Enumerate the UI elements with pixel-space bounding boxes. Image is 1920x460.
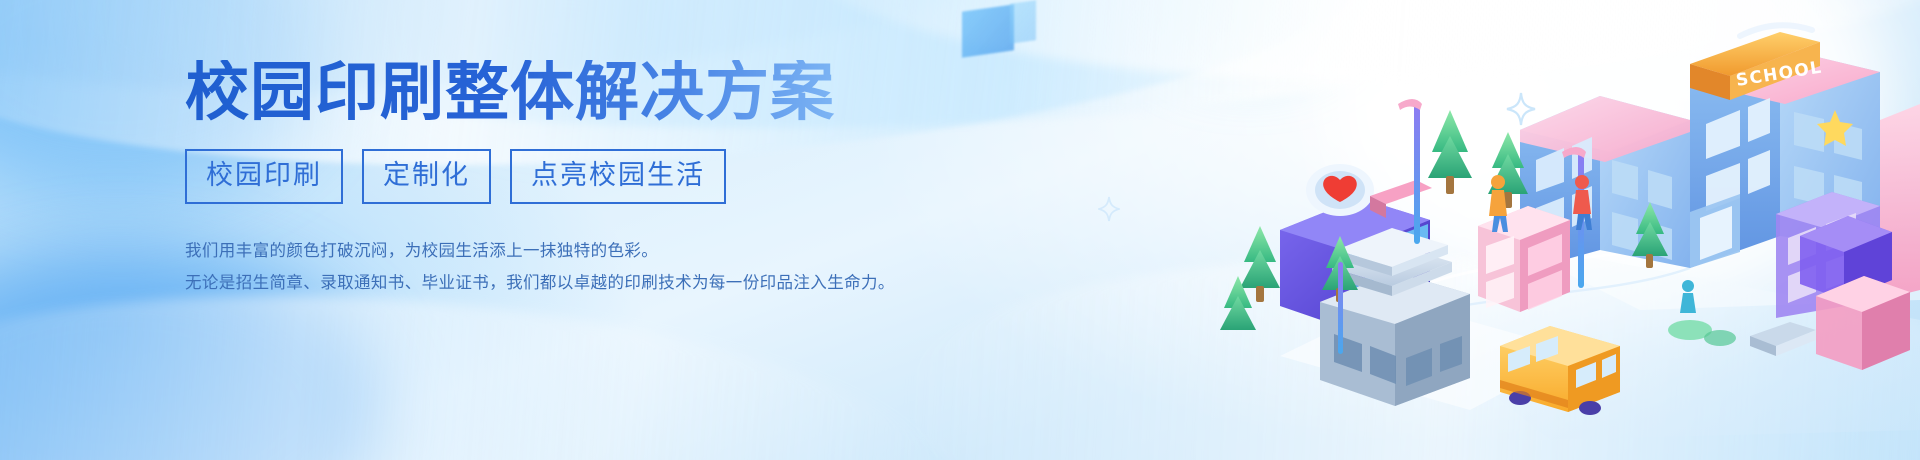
decorative-square-1 [962, 4, 1014, 57]
isometric-campus-scene: SCHOOL [1220, 0, 1920, 460]
description-line-1: 我们用丰富的颜色打破沉闷，为校园生活添上一抹独特的色彩。 [185, 235, 945, 267]
campus-illustration: SCHOOL [1220, 0, 1920, 460]
promo-banner: 校园印刷整体解决方案 校园印刷 定制化 点亮校园生活 我们用丰富的颜色打破沉闷，… [0, 0, 1920, 460]
banner-description: 我们用丰富的颜色打破沉闷，为校园生活添上一抹独特的色彩。 无论是招生简章、录取通… [185, 235, 945, 299]
feature-tag-light-up-campus-life[interactable]: 点亮校园生活 [510, 149, 726, 204]
feature-tag-customization[interactable]: 定制化 [362, 149, 491, 204]
page-title: 校园印刷整体解决方案 [185, 60, 945, 127]
kiosk-building [1478, 206, 1570, 312]
banner-text-column: 校园印刷整体解决方案 校园印刷 定制化 点亮校园生活 我们用丰富的颜色打破沉闷，… [185, 60, 945, 300]
decorative-square-2 [1010, 0, 1036, 44]
sparkle-icon-2 [1098, 196, 1120, 222]
feature-tag-campus-printing[interactable]: 校园印刷 [185, 149, 343, 204]
feature-tag-list: 校园印刷 定制化 点亮校园生活 [185, 149, 945, 204]
description-line-2: 无论是招生简章、录取通知书、毕业证书，我们都以卓越的印刷技术为每一份印品注入生命… [185, 267, 945, 299]
